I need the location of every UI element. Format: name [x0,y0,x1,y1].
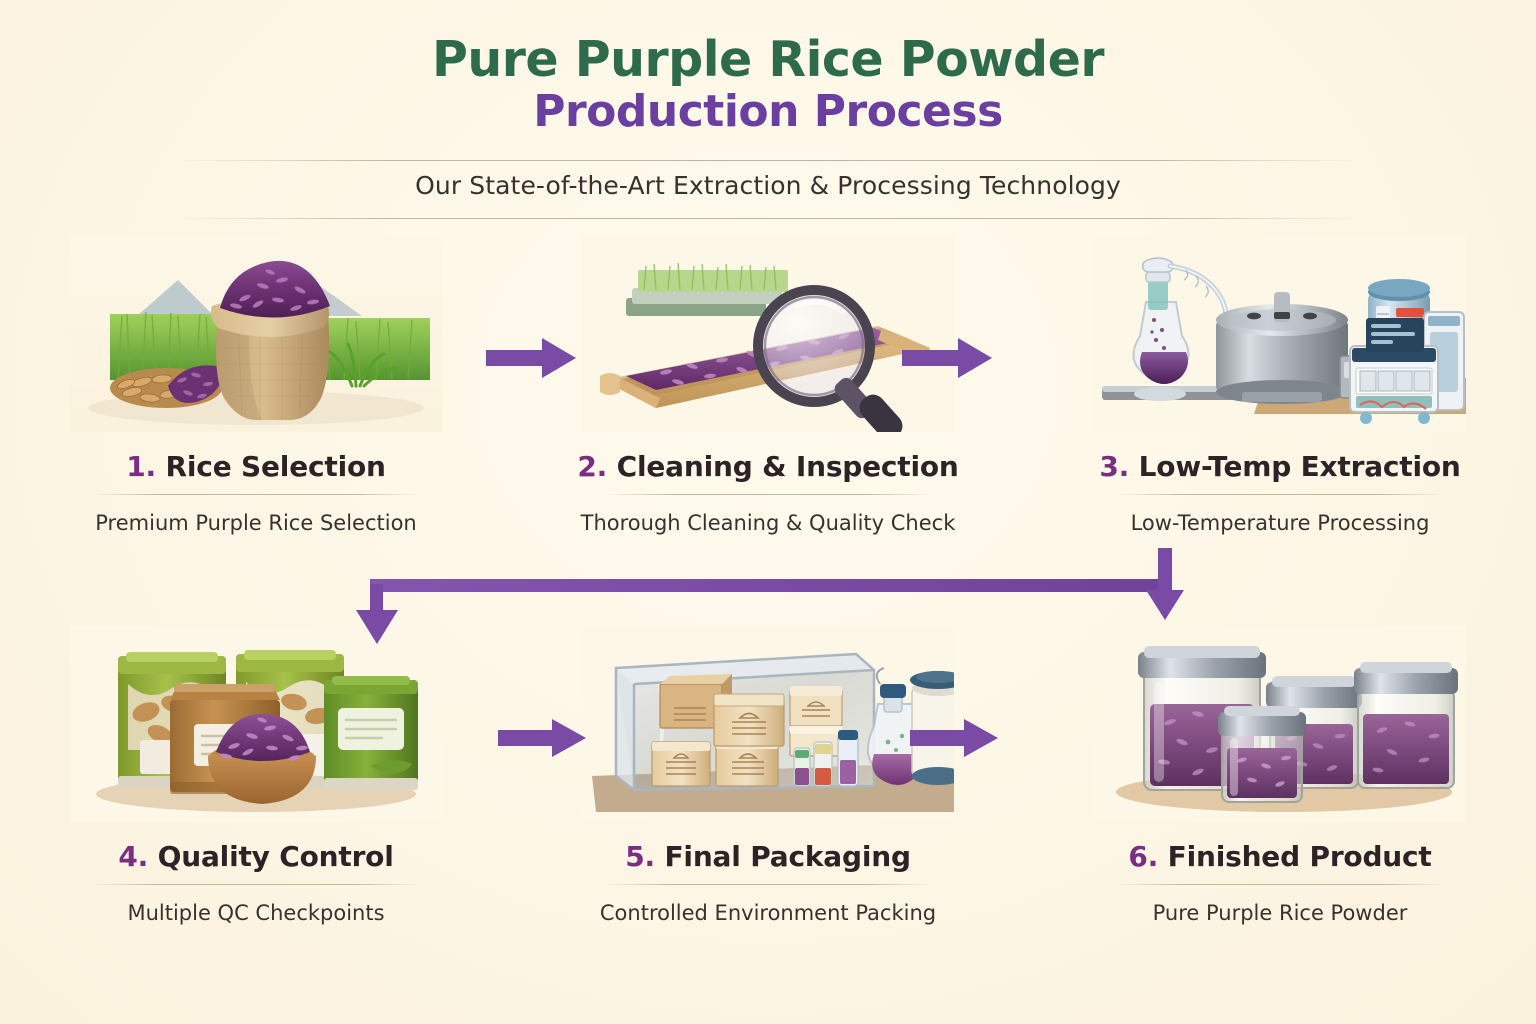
step-6-description: Pure Purple Rice Powder [1153,901,1408,925]
steps-row-bottom: 4. Quality Control Multiple QC Checkpoin… [0,626,1536,925]
step-2-title-text: Cleaning & Inspection [617,450,959,483]
step-1-title-text: Rice Selection [166,450,386,483]
arrow-step-4-to-5 [496,715,592,761]
step-card-1[interactable]: 1. Rice Selection Premium Purple Rice Se… [0,236,512,535]
step-5-divider [603,884,933,885]
step-4-title: 4. Quality Control [118,840,393,873]
page-title-line2: Production Process [0,89,1536,135]
step-3-illustration [1094,236,1466,432]
step-3-number: 3. [1099,450,1129,483]
arrow-step-3-to-4-connector [340,540,1200,650]
step-1-title: 1. Rice Selection [126,450,386,483]
header: Pure Purple Rice Powder Production Proce… [0,0,1536,136]
step-5-number: 5. [625,840,655,873]
step-1-divider [91,494,421,495]
steps-row-top: 1. Rice Selection Premium Purple Rice Se… [0,236,1536,535]
step-5-description: Controlled Environment Packing [600,901,936,925]
step-1-illustration [70,236,442,432]
step-5-illustration [582,626,954,822]
step-card-6[interactable]: 6. Finished Product Pure Purple Rice Pow… [1024,626,1536,925]
step-6-title-text: Finished Product [1168,840,1432,873]
step-1-number: 1. [126,450,156,483]
step-card-3[interactable]: 3. Low-Temp Extraction Low-Temperature P… [1024,236,1536,535]
arrow-step-5-to-6 [908,715,1004,761]
step-6-divider [1115,884,1445,885]
step-card-4[interactable]: 4. Quality Control Multiple QC Checkpoin… [0,626,512,925]
step-2-divider [603,494,933,495]
infographic-canvas: Pure Purple Rice Powder Production Proce… [0,0,1536,1024]
arrow-step-2-to-3 [900,335,996,381]
step-4-illustration [70,626,442,822]
step-2-description: Thorough Cleaning & Quality Check [581,511,956,535]
step-3-divider [1115,494,1445,495]
step-4-description: Multiple QC Checkpoints [127,901,384,925]
step-3-title: 3. Low-Temp Extraction [1099,450,1460,483]
step-2-number: 2. [577,450,607,483]
step-2-illustration [582,236,954,432]
step-4-divider [91,884,421,885]
step-3-title-text: Low-Temp Extraction [1139,450,1461,483]
step-5-title-text: Final Packaging [665,840,911,873]
step-6-title: 6. Finished Product [1128,840,1431,873]
step-3-description: Low-Temperature Processing [1131,511,1430,535]
step-2-title: 2. Cleaning & Inspection [577,450,958,483]
header-tagline: Our State-of-the-Art Extraction & Proces… [0,171,1536,200]
step-6-number: 6. [1128,840,1158,873]
header-divider-top [176,160,1360,161]
step-4-number: 4. [118,840,148,873]
header-divider-bottom [176,218,1360,219]
page-title-line1: Pure Purple Rice Powder [0,34,1536,85]
step-6-illustration [1094,626,1466,822]
step-card-5[interactable]: 5. Final Packaging Controlled Environmen… [512,626,1024,925]
step-card-2[interactable]: 2. Cleaning & Inspection Thorough Cleani… [512,236,1024,535]
step-1-description: Premium Purple Rice Selection [95,511,416,535]
step-5-title: 5. Final Packaging [625,840,911,873]
arrow-step-1-to-2 [484,335,580,381]
step-4-title-text: Quality Control [158,840,394,873]
